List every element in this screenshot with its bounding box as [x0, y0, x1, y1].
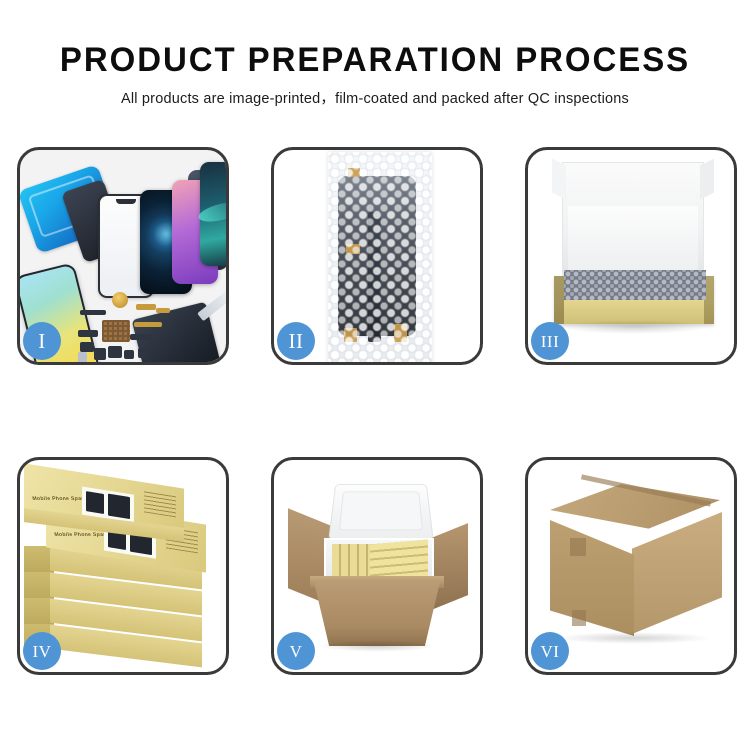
- screen-flex-cable: [368, 212, 381, 342]
- bubble-wrap-pouch: [328, 152, 432, 362]
- sealed-carton-side: [632, 512, 722, 634]
- part-ribbon-cable: [134, 322, 162, 327]
- phone-teal: [200, 162, 226, 266]
- part-camera-module: [108, 346, 122, 358]
- carton-tape-lower: [572, 610, 586, 626]
- page-root: PRODUCT PREPARATION PROCESS All products…: [0, 0, 750, 750]
- part-button: [94, 348, 106, 360]
- step-badge-6: VI: [531, 632, 569, 670]
- step-badge-4: IV: [23, 632, 61, 670]
- tape-middle: [346, 244, 360, 254]
- part-mesh: [102, 320, 130, 342]
- box-screen-img-1a: [86, 491, 104, 514]
- page-title: PRODUCT PREPARATION PROCESS: [11, 0, 739, 80]
- process-step-3: III: [525, 147, 737, 365]
- grey-bubble-foam: [564, 270, 706, 300]
- box-screen-img-1b: [108, 494, 130, 519]
- box-spec-text-1: [144, 490, 176, 517]
- part-sim-tray: [78, 352, 87, 362]
- tape-bottom-right: [394, 324, 407, 342]
- foam-cooler-lid: [328, 484, 433, 540]
- part-earpiece: [80, 310, 106, 315]
- part-connector: [156, 308, 170, 313]
- page-subtitle: All products are image-printed，film-coat…: [0, 80, 750, 108]
- process-step-2: II: [271, 147, 483, 365]
- carton-shadow: [318, 640, 436, 652]
- carton-tape-upper: [570, 538, 586, 556]
- tape-bottom-left: [344, 328, 357, 342]
- process-step-4: Mobile Phone Spare Parts Mobile Phone Sp…: [17, 457, 229, 675]
- sealed-carton-shadow: [554, 632, 712, 644]
- process-step-1: I: [17, 147, 229, 365]
- part-bracket-1: [78, 330, 98, 337]
- process-step-5: V: [271, 457, 483, 675]
- part-bracket-2: [80, 342, 94, 352]
- process-grid: I II: [17, 147, 733, 675]
- part-antenna: [130, 334, 152, 340]
- part-speaker: [112, 292, 128, 308]
- step-badge-2: II: [277, 322, 315, 360]
- carton-body: [314, 582, 440, 646]
- process-step-6: VI: [525, 457, 737, 675]
- page-header: PRODUCT PREPARATION PROCESS All products…: [0, 0, 750, 108]
- tape-top: [348, 168, 360, 177]
- part-screw-plate: [124, 350, 134, 359]
- part-vibrator: [138, 348, 148, 358]
- spare-parts-cluster: [78, 290, 226, 362]
- box-shadow: [558, 320, 710, 334]
- part-flex-gold: [136, 304, 156, 310]
- step-badge-3: III: [531, 322, 569, 360]
- step-badge-1: I: [23, 322, 61, 360]
- step-badge-5: V: [277, 632, 315, 670]
- white-foam-sheet: [568, 206, 698, 278]
- sealed-carton-front: [550, 520, 634, 636]
